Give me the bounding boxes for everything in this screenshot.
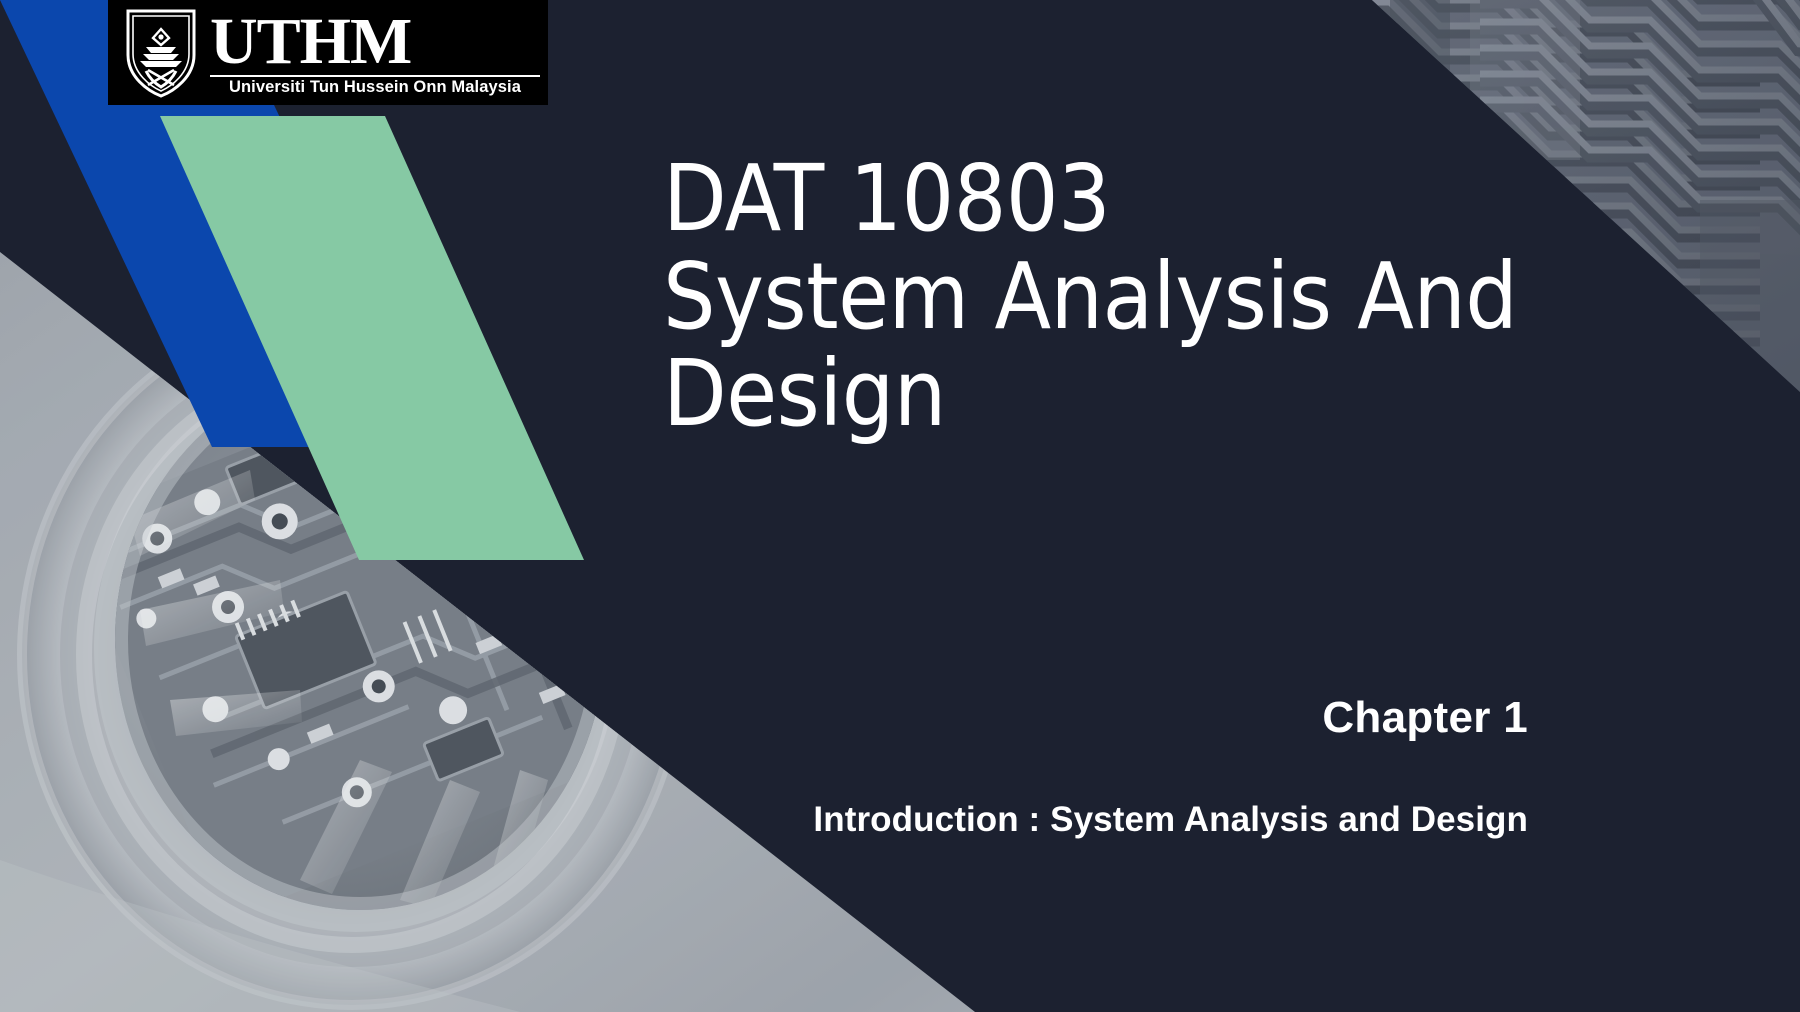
uthm-wordmark-group: UTHM Universiti Tun Hussein Onn Malaysia	[210, 10, 540, 95]
shield-crest-icon	[122, 7, 200, 99]
title-slide: UTHM Universiti Tun Hussein Onn Malaysia…	[0, 0, 1800, 1012]
logo-divider-rule	[210, 75, 540, 77]
chapter-label: Chapter 1	[1322, 693, 1528, 743]
page-title: DAT 10803 System Analysis And Design	[663, 150, 1663, 443]
uthm-wordmark: UTHM	[210, 12, 540, 73]
uthm-tagline: Universiti Tun Hussein Onn Malaysia	[210, 79, 540, 96]
chapter-subtitle: Introduction : System Analysis and Desig…	[813, 800, 1528, 840]
uthm-logo: UTHM Universiti Tun Hussein Onn Malaysia	[108, 0, 548, 105]
